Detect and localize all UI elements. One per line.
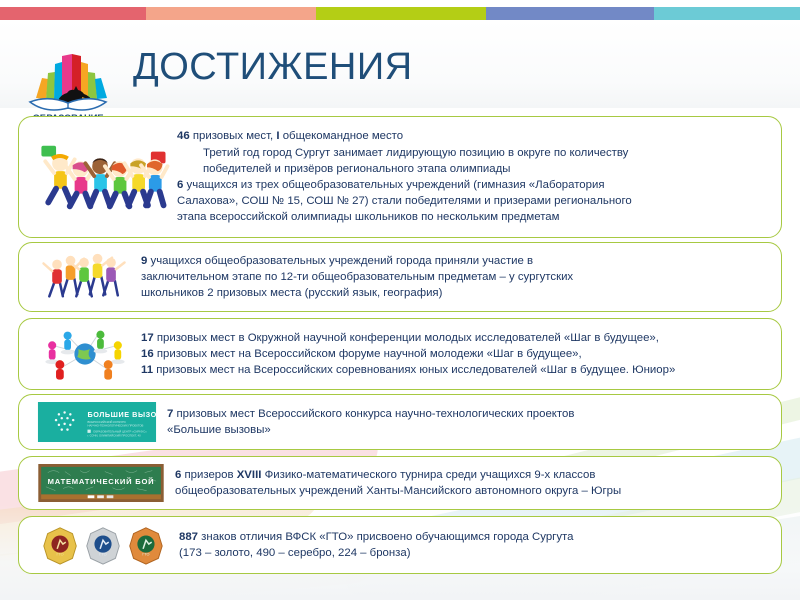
achievement-text: 9 учащихся общеобразовательных учреждени…: [141, 253, 781, 302]
achievement-line: 887 знаков отличия ВФСК «ГТО» присвоено …: [179, 529, 781, 545]
achievement-line: 6 призеров XVIII Физико-математического …: [175, 467, 781, 483]
achievement-line: 7 призовых мест Всероссийского конкурса …: [167, 406, 781, 422]
svg-text:ВСЕРОССИЙСКИЙ КОНКУРС: ВСЕРОССИЙСКИЙ КОНКУРС: [87, 420, 126, 424]
bolshie-vyzovy-logo-image: БОЛЬШИЕ ВЫЗОВЫ ВСЕРОССИЙСКИЙ КОНКУРС НАУ…: [19, 402, 167, 442]
achievement-text: 887 знаков отличия ВФСК «ГТО» присвоено …: [179, 529, 781, 561]
globe-network-figures-image: [19, 326, 141, 382]
svg-text:ГТО: ГТО: [56, 553, 63, 557]
svg-text:БОЛЬШИЕ ВЫЗОВЫ: БОЛЬШИЕ ВЫЗОВЫ: [87, 410, 158, 419]
achievement-block-bolshie-vyzovy[interactable]: БОЛЬШИЕ ВЫЗОВЫ ВСЕРОССИЙСКИЙ КОНКУРС НАУ…: [18, 394, 782, 450]
achievement-line: Салахова», СОШ № 15, СОШ № 27) стали поб…: [177, 193, 767, 209]
achievement-line: победителей и призёров регионального эта…: [177, 161, 767, 177]
achievement-block-final-stage[interactable]: 9 учащихся общеобразовательных учреждени…: [18, 242, 782, 312]
achievement-text: 17 призовых мест в Окружной научной конф…: [141, 330, 781, 379]
slide-root: ОБРАЗОВАНИЕ СУРГУТА ДОСТИЖЕНИЯ: [0, 0, 800, 600]
svg-text:ГТО: ГТО: [142, 553, 149, 557]
achievement-line: этапа всероссийской олимпиады школьников…: [177, 209, 767, 225]
achievement-text: 6 призеров XVIII Физико-математического …: [175, 467, 781, 499]
achievement-line: 46 призовых мест, I общекомандное место: [177, 128, 767, 144]
jumping-kids-image: [19, 134, 177, 220]
achievement-line: общеобразовательных учреждений Ханты-Ман…: [175, 483, 781, 499]
achievement-text: 7 призовых мест Всероссийского конкурса …: [167, 406, 781, 438]
achievement-block-olympiad[interactable]: 46 призовых мест, I общекомандное местоТ…: [18, 116, 782, 238]
achievement-line: Третий год город Сургут занимает лидирую…: [177, 145, 767, 161]
achievement-block-gto[interactable]: ГТО ГТО ГТО: [18, 516, 782, 574]
svg-text:МАТЕМАТИЧЕСКИЙ БОЙ: МАТЕМАТИЧЕСКИЙ БОЙ: [48, 477, 155, 486]
svg-text:ОБРАЗОВАТЕЛЬНЫЙ ЦЕНТР «СИРИУС»: ОБРАЗОВАТЕЛЬНЫЙ ЦЕНТР «СИРИУС»: [93, 429, 147, 433]
achievement-block-step-into-future[interactable]: 17 призовых мест в Окружной научной конф…: [18, 318, 782, 390]
achievement-line: 17 призовых мест в Окружной научной конф…: [141, 330, 781, 346]
achievement-blocks: 46 призовых мест, I общекомандное местоТ…: [0, 0, 800, 600]
achievement-line: заключительном этапе по 12-ти общеобразо…: [141, 269, 781, 285]
matematicheskiy-boy-chalkboard-image: МАТЕМАТИЧЕСКИЙ БОЙ: [19, 464, 175, 502]
svg-text:ГТО: ГТО: [99, 553, 106, 557]
dancing-students-image: [19, 250, 141, 304]
achievement-line: «Большие вызовы»: [167, 422, 781, 438]
achievement-line: 16 призовых мест на Всероссийском форуме…: [141, 346, 781, 362]
gto-badges-image: ГТО ГТО ГТО: [19, 524, 179, 566]
achievement-line: (173 – золото, 490 – серебро, 224 – брон…: [179, 545, 781, 561]
svg-text:г. СОЧИ, ОЛИМПИЙСКИЙ ПРОСПЕКТ,: г. СОЧИ, ОЛИМПИЙСКИЙ ПРОСПЕКТ, 40: [87, 433, 141, 437]
achievement-text: 46 призовых мест, I общекомандное местоТ…: [177, 128, 781, 225]
achievement-block-math-tournament[interactable]: МАТЕМАТИЧЕСКИЙ БОЙ 6 призеров XVIII Физи…: [18, 456, 782, 510]
achievement-line: 9 учащихся общеобразовательных учреждени…: [141, 253, 781, 269]
achievement-line: школьников 2 призовых места (русский язы…: [141, 285, 781, 301]
achievement-line: 11 призовых мест на Всероссийских соревн…: [141, 362, 781, 378]
achievement-line: 6 учащихся из трех общеобразовательных у…: [177, 177, 767, 193]
svg-text:НАУЧНО-ТЕХНОЛОГИЧЕСКИХ ПРОЕКТО: НАУЧНО-ТЕХНОЛОГИЧЕСКИХ ПРОЕКТОВ: [87, 424, 143, 428]
